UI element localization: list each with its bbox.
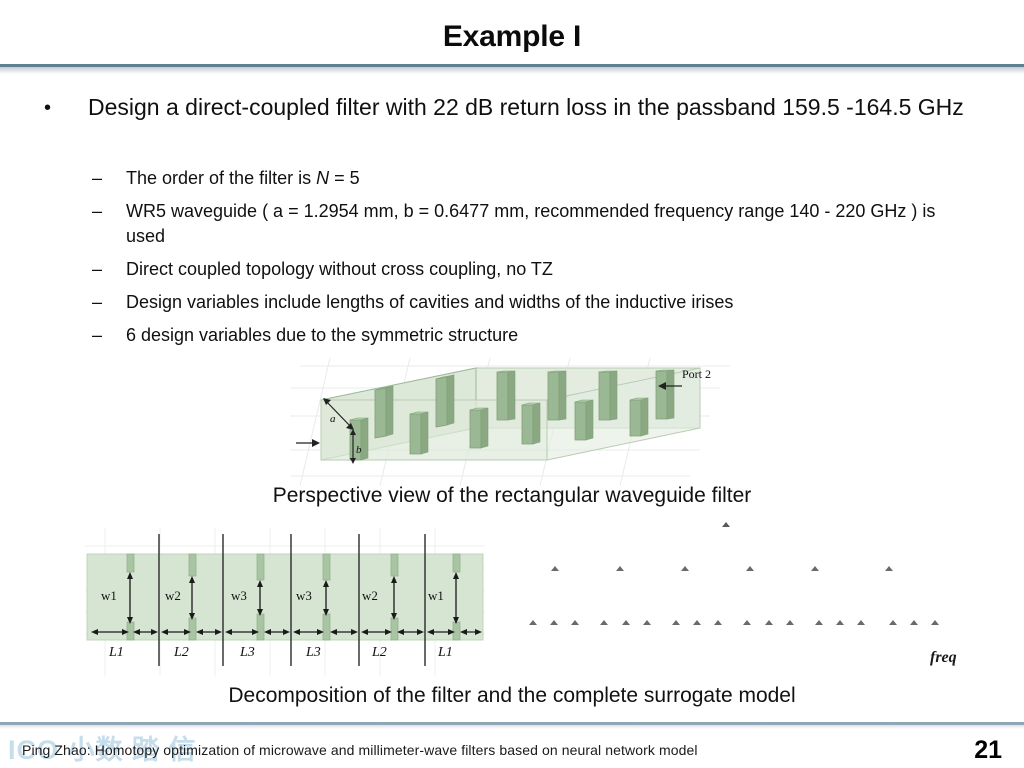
svg-text:w3: w3 [296, 588, 312, 603]
list-item: – The order of the filter is N = 5 [92, 166, 962, 191]
svg-text:L1: L1 [437, 645, 453, 660]
svg-text:L3: L3 [305, 645, 321, 660]
dimension-b-label: b [356, 444, 362, 456]
dash-icon: – [92, 323, 102, 348]
dash-icon: – [92, 257, 102, 282]
surrogate-mid-nodes [551, 566, 893, 571]
sub-bullet-text: The order of the filter is [126, 168, 316, 188]
main-bullet: • Design a direct-coupled filter with 22… [40, 92, 970, 123]
surrogate-model-figure: freq [500, 505, 980, 685]
svg-text:L2: L2 [371, 645, 387, 660]
sub-bullet-text: Design variables include lengths of cavi… [126, 292, 733, 312]
decomposition-svg: w1 w2 w3 w3 w2 w1 [85, 528, 485, 676]
svg-text:L1: L1 [108, 645, 124, 660]
sub-bullet-text: WR5 waveguide ( a = 1.2954 mm, b = 0.647… [126, 201, 935, 246]
page-number: 21 [974, 736, 1002, 765]
list-item: – 6 design variables due to the symmetri… [92, 323, 962, 348]
bullet-dot-icon: • [44, 93, 51, 124]
port1-arrow-icon [296, 439, 320, 447]
list-item: – Design variables include lengths of ca… [92, 290, 962, 315]
svg-text:w1: w1 [428, 588, 444, 603]
surrogate-axis-label: freq [930, 649, 957, 666]
sub-bullet-text: 6 design variables due to the symmetric … [126, 325, 518, 345]
header-divider-shadow [0, 67, 1024, 74]
svg-text:w3: w3 [231, 588, 247, 603]
dash-icon: – [92, 166, 102, 191]
waveguide-3d-svg: a b Port 2 [290, 358, 730, 486]
surrogate-top-nodes [722, 522, 730, 527]
waveguide-slab [87, 554, 483, 640]
sub-bullet-suffix: = 5 [329, 168, 360, 188]
dimension-a-label: a [330, 413, 336, 425]
svg-text:L2: L2 [173, 645, 189, 660]
svg-text:w2: w2 [165, 588, 181, 603]
decomposition-figure-caption: Decomposition of the filter and the comp… [0, 684, 1024, 708]
main-bullet-text: Design a direct-coupled filter with 22 d… [88, 92, 970, 123]
surrogate-model-svg: freq [500, 505, 980, 685]
svg-text:w1: w1 [101, 588, 117, 603]
list-item: – WR5 waveguide ( a = 1.2954 mm, b = 0.6… [92, 199, 962, 249]
decomposition-figure: w1 w2 w3 w3 w2 w1 [85, 528, 485, 676]
sub-bullet-list: – The order of the filter is N = 5 – WR5… [92, 166, 962, 356]
perspective-waveguide-figure: a b Port 2 [290, 358, 730, 486]
sub-bullet-text: Direct coupled topology without cross co… [126, 259, 553, 279]
port2-label: Port 2 [682, 367, 711, 381]
dash-icon: – [92, 290, 102, 315]
surrogate-bottom-nodes [529, 620, 939, 625]
slide-canvas: Example I • Design a direct-coupled filt… [0, 0, 1024, 768]
svg-text:L3: L3 [239, 645, 255, 660]
page-title: Example I [0, 20, 1024, 54]
sub-bullet-italic: N [316, 168, 329, 188]
footer-text: Ping Zhao: Homotopy optimization of micr… [22, 742, 698, 758]
svg-text:w2: w2 [362, 588, 378, 603]
list-item: – Direct coupled topology without cross … [92, 257, 962, 282]
footer-divider-shadow [0, 725, 1024, 729]
dash-icon: – [92, 199, 102, 224]
